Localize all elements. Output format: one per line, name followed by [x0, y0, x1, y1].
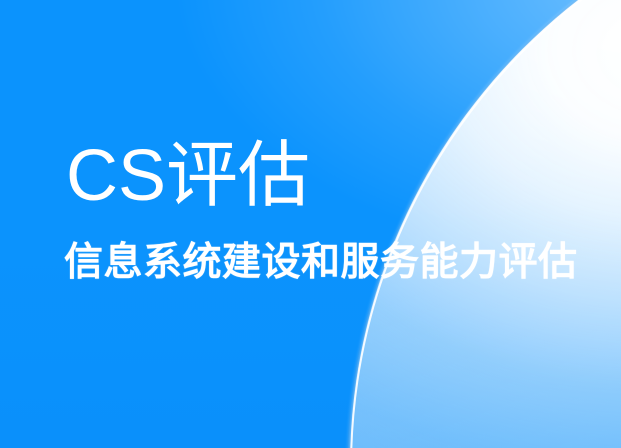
banner-subtitle: 信息系统建设和服务能力评估	[64, 238, 578, 288]
banner-title: CS评估	[66, 134, 310, 218]
banner-text-block: CS评估 信息系统建设和服务能力评估	[0, 0, 621, 448]
cs-assessment-banner: CS评估 信息系统建设和服务能力评估	[0, 0, 621, 448]
